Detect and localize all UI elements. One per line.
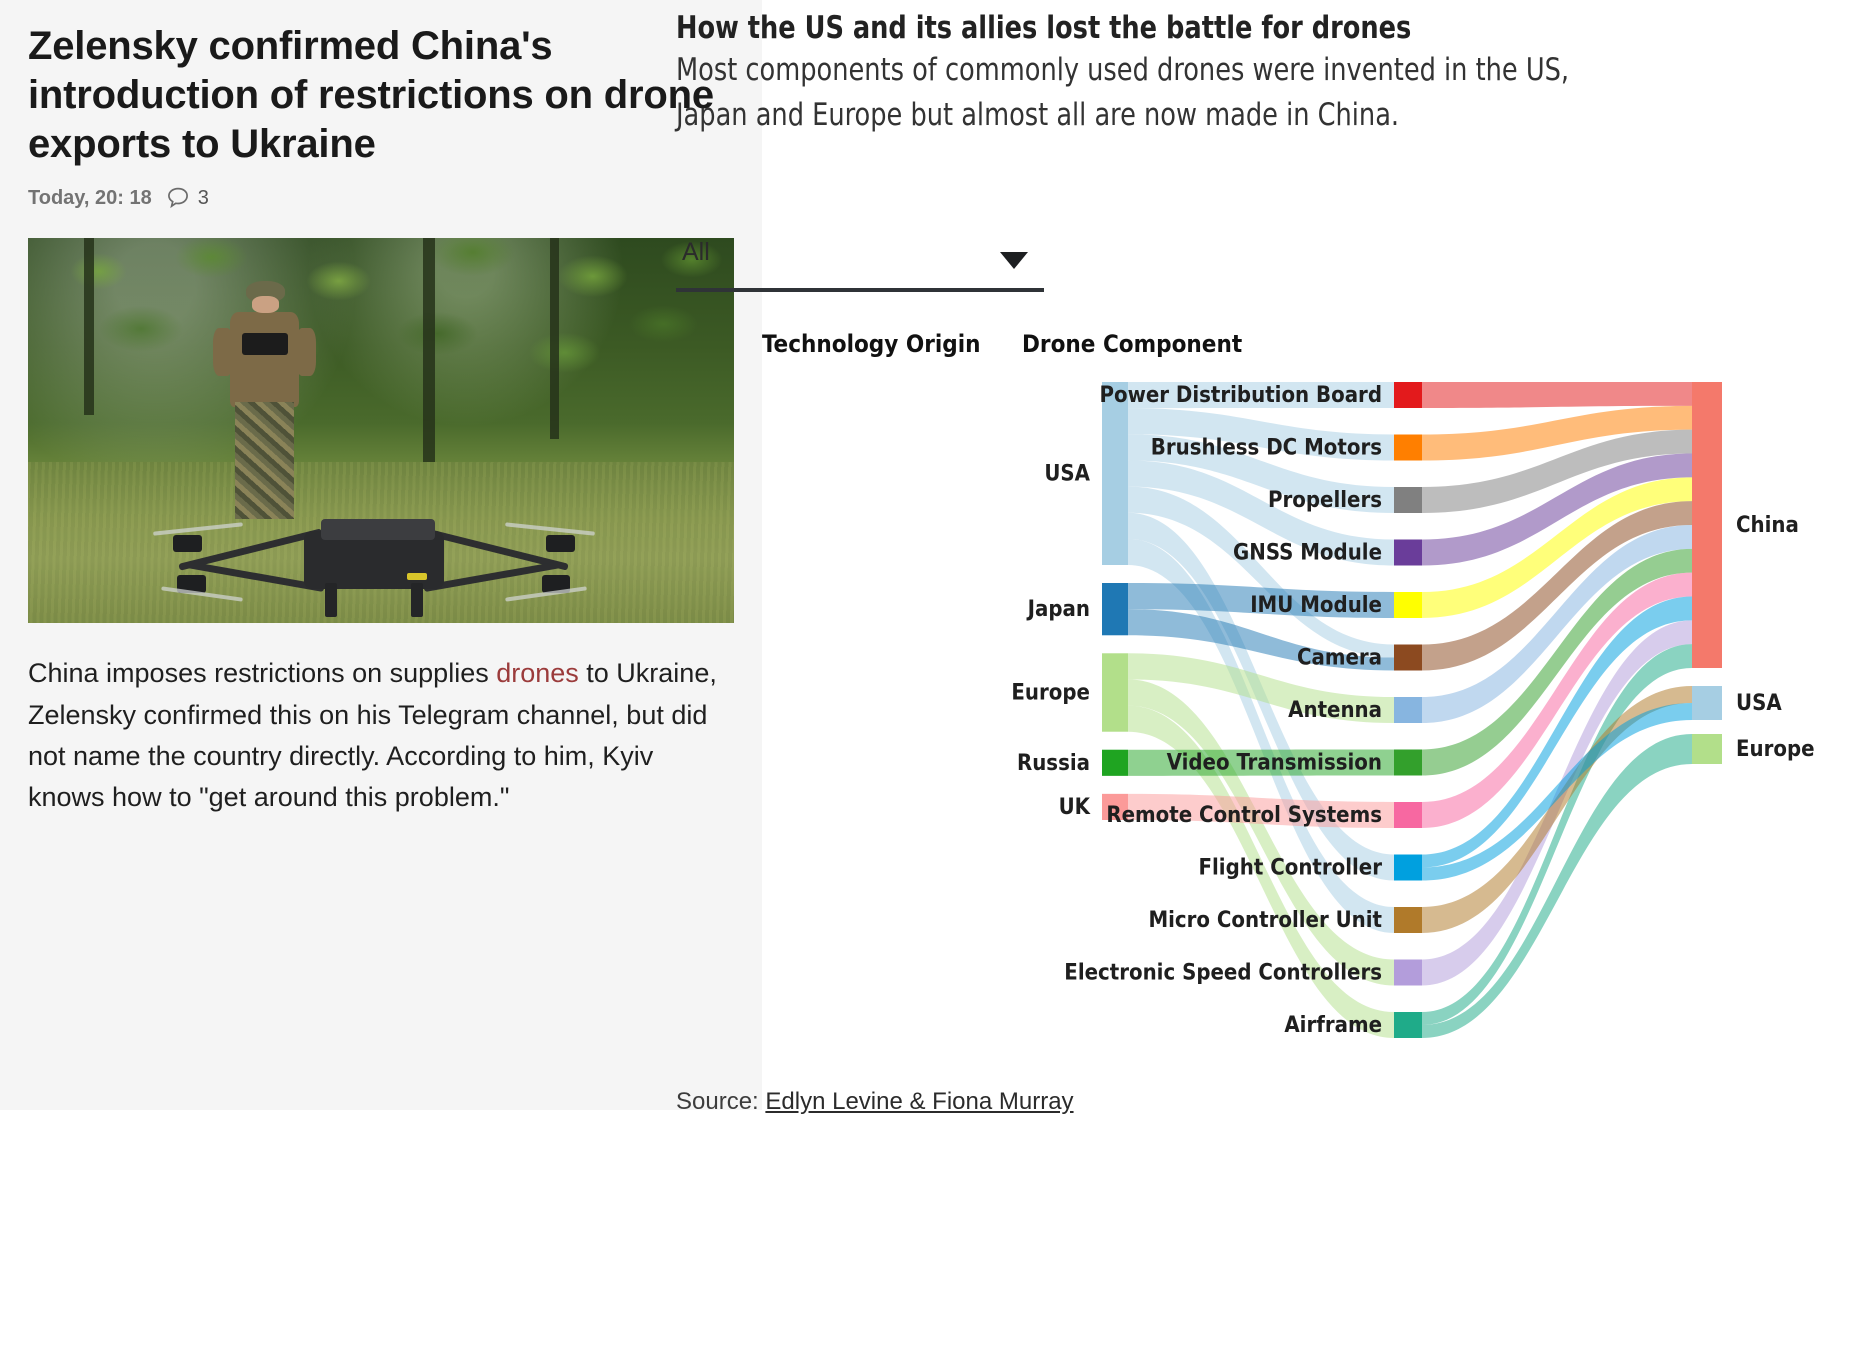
chevron-down-icon	[1000, 252, 1028, 269]
source-prefix: Source:	[676, 1088, 765, 1115]
sankey-diagram: USAJapanEuropeRussiaUKPower Distribution…	[762, 368, 1872, 1068]
photo-drone	[169, 500, 578, 604]
sankey-node-remotecontrolsystems[interactable]	[1394, 802, 1422, 828]
sankey-node-label: Europe	[1011, 681, 1090, 706]
photo-tree-trunk	[84, 238, 94, 415]
sankey-link	[1422, 382, 1692, 408]
sankey-node-label: USA	[1044, 462, 1090, 487]
comment-count: 3	[198, 187, 209, 210]
body-text-before: China imposes restrictions on supplies	[28, 658, 496, 688]
chart-panel: How the US and its allies lost the battl…	[762, 0, 1872, 1372]
body-keyword-link[interactable]: drones	[496, 658, 579, 688]
photo-foliage	[28, 238, 734, 477]
sankey-node-label: IMU Module	[1250, 593, 1382, 618]
page-title: Zelensky confirmed China's introduction …	[28, 22, 734, 168]
article-body: China imposes restrictions on supplies d…	[28, 653, 734, 818]
page-root: Zelensky confirmed China's introduction …	[0, 0, 1872, 1372]
sankey-node-imumodule[interactable]	[1394, 592, 1422, 618]
sankey-node-powerdistributionboard[interactable]	[1394, 382, 1422, 408]
sankey-node-label: Antenna	[1288, 698, 1382, 723]
filter-select-value: All	[682, 238, 710, 267]
sankey-node-airframe[interactable]	[1394, 1012, 1422, 1038]
sankey-node-antenna[interactable]	[1394, 697, 1422, 723]
source-credit: Source: Edlyn Levine & Fiona Murray	[676, 1088, 1074, 1116]
sankey-node-label: Micro Controller Unit	[1148, 908, 1382, 933]
sankey-node-label: Japan	[1026, 597, 1090, 622]
sankey-node-label: GNSS Module	[1233, 541, 1382, 566]
sankey-node-flightcontroller[interactable]	[1394, 855, 1422, 881]
sankey-node-label: UK	[1059, 795, 1091, 820]
sankey-node-usa_out[interactable]	[1692, 686, 1722, 720]
sankey-node-brushlessdcmotors[interactable]	[1394, 435, 1422, 461]
chart-title: How the US and its allies lost the battl…	[676, 10, 1504, 46]
sankey-node-camera[interactable]	[1394, 645, 1422, 671]
sankey-node-label: Flight Controller	[1199, 856, 1383, 881]
sankey-node-label: China	[1736, 513, 1799, 538]
source-link[interactable]: Edlyn Levine & Fiona Murray	[765, 1088, 1073, 1115]
sankey-node-europe[interactable]	[1102, 653, 1128, 731]
sankey-node-label: Electronic Speed Controllers	[1064, 961, 1382, 986]
sankey-node-label: Power Distribution Board	[1099, 383, 1382, 408]
sankey-node-propellers[interactable]	[1394, 487, 1422, 513]
sankey-node-label: Remote Control Systems	[1106, 803, 1382, 828]
sankey-node-japan[interactable]	[1102, 583, 1128, 635]
sankey-node-label: Airframe	[1284, 1013, 1382, 1038]
article-photo	[28, 238, 734, 623]
sankey-node-russia[interactable]	[1102, 750, 1128, 776]
sankey-node-europe_out[interactable]	[1692, 734, 1722, 764]
sankey-node-usa[interactable]	[1102, 382, 1128, 565]
timestamp: Today, 20: 18	[28, 187, 152, 210]
sankey-node-label: Russia	[1017, 751, 1090, 776]
sankey-node-china[interactable]	[1692, 382, 1722, 668]
photo-tree-trunk	[423, 238, 434, 461]
column-header-origin: Technology Origin	[762, 330, 980, 358]
sankey-node-label: USA	[1736, 691, 1782, 716]
speech-bubble-icon	[166, 186, 190, 210]
news-article-card: Zelensky confirmed China's introduction …	[0, 0, 762, 1110]
chart-subtitle: Most components of commonly used drones …	[676, 48, 1596, 137]
sankey-node-label: Europe	[1736, 737, 1815, 762]
article-meta: Today, 20: 18 3	[28, 186, 734, 210]
sankey-node-label: Video Transmission	[1167, 751, 1382, 776]
column-header-component: Drone Component	[1022, 330, 1242, 358]
sankey-node-videotransmission[interactable]	[1394, 750, 1422, 776]
sankey-node-microcontrollerunit[interactable]	[1394, 907, 1422, 933]
comments-control[interactable]: 3	[166, 186, 209, 210]
photo-tree-trunk	[550, 238, 558, 438]
sankey-node-electronicspeedcontrollers[interactable]	[1394, 960, 1422, 986]
filter-select[interactable]: All	[676, 232, 1044, 292]
sankey-node-label: Propellers	[1268, 488, 1382, 513]
photo-soldier	[219, 281, 311, 520]
sankey-node-label: Camera	[1297, 646, 1382, 671]
sankey-node-label: Brushless DC Motors	[1151, 436, 1382, 461]
sankey-link	[1422, 734, 1692, 1038]
sankey-node-gnssmodule[interactable]	[1394, 540, 1422, 566]
